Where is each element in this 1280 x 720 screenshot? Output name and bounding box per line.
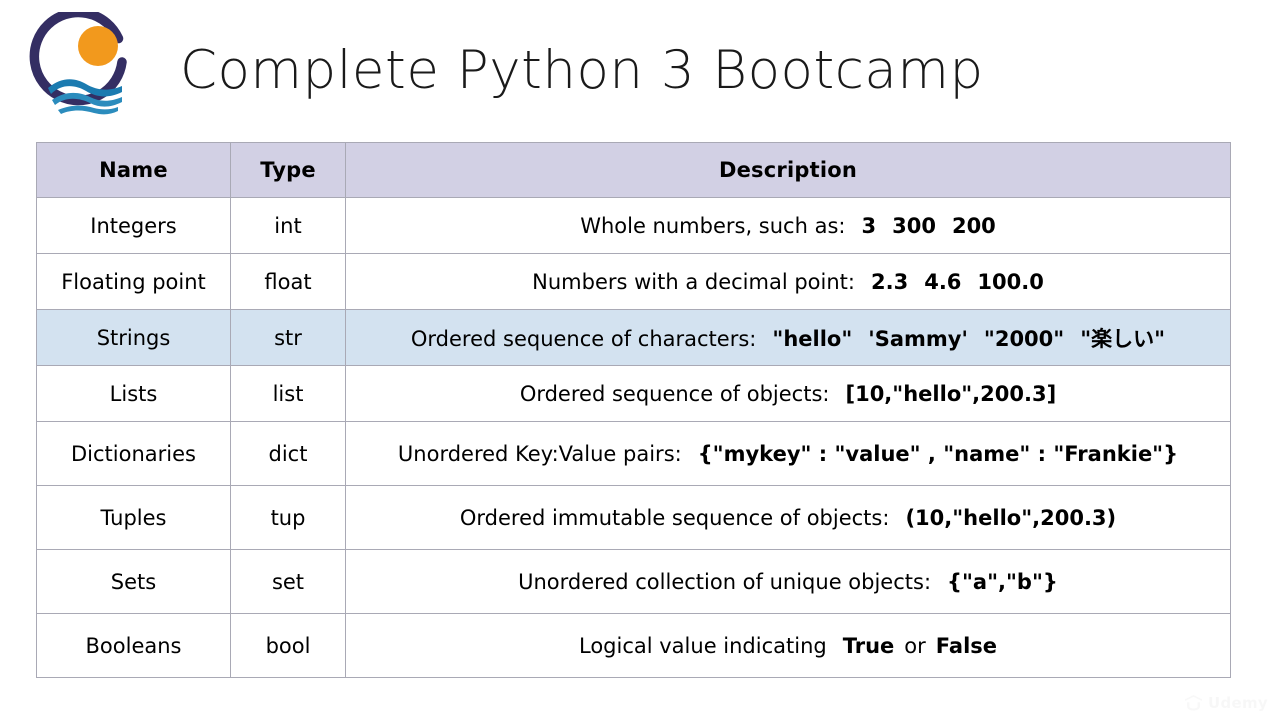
description-value: 300 — [892, 214, 936, 238]
description-text: Logical value indicating — [579, 634, 827, 658]
description-value: 200 — [952, 214, 996, 238]
description-value: "hello" — [772, 327, 852, 351]
table-row: DictionariesdictUnordered Key:Value pair… — [37, 422, 1231, 486]
table-row: BooleansboolLogical value indicatingTrue… — [37, 614, 1231, 678]
cell-type: dict — [231, 422, 346, 486]
description-value: True — [843, 634, 895, 658]
description-value: 'Sammy' — [868, 327, 968, 351]
cell-description: Unordered Key:Value pairs:{"mykey" : "va… — [346, 422, 1231, 486]
cell-description: Unordered collection of unique objects:{… — [346, 550, 1231, 614]
table-row: IntegersintWhole numbers, such as:330020… — [37, 198, 1231, 254]
cell-description: Ordered sequence of objects:[10,"hello",… — [346, 366, 1231, 422]
table-header-row: Name Type Description — [37, 143, 1231, 198]
cell-name: Lists — [37, 366, 231, 422]
cell-name: Floating point — [37, 254, 231, 310]
description-value: 4.6 — [924, 270, 961, 294]
cell-name: Booleans — [37, 614, 231, 678]
cell-name: Integers — [37, 198, 231, 254]
description-value: False — [936, 634, 997, 658]
cell-type: str — [231, 310, 346, 366]
table-row: Floating pointfloatNumbers with a decima… — [37, 254, 1231, 310]
cell-type: list — [231, 366, 346, 422]
cell-description: Ordered immutable sequence of objects:(1… — [346, 486, 1231, 550]
column-header-name: Name — [37, 143, 231, 198]
description-value: {"mykey" : "value" , "name" : "Frankie"} — [698, 442, 1178, 466]
column-header-description: Description — [346, 143, 1231, 198]
description-value: "楽しい" — [1080, 327, 1165, 351]
cell-description: Whole numbers, such as:3300200 — [346, 198, 1231, 254]
description-value: (10,"hello",200.3) — [905, 506, 1116, 530]
table-row: ListslistOrdered sequence of objects:[10… — [37, 366, 1231, 422]
description-text: Ordered sequence of objects: — [520, 382, 830, 406]
description-value: 3 — [861, 214, 876, 238]
cell-description: Numbers with a decimal point:2.34.6100.0 — [346, 254, 1231, 310]
description-text: Ordered sequence of characters: — [411, 327, 757, 351]
cell-description: Logical value indicatingTrueorFalse — [346, 614, 1231, 678]
pierian-data-logo — [26, 12, 142, 128]
table-row: StringsstrOrdered sequence of characters… — [37, 310, 1231, 366]
description-text: Ordered immutable sequence of objects: — [460, 506, 890, 530]
cell-name: Sets — [37, 550, 231, 614]
udemy-logo-icon — [1184, 695, 1203, 711]
cell-description: Ordered sequence of characters:"hello"'S… — [346, 310, 1231, 366]
description-value: 100.0 — [977, 270, 1043, 294]
python-data-types-table: Name Type Description IntegersintWhole n… — [36, 142, 1231, 678]
description-value: 2.3 — [871, 270, 908, 294]
cell-name: Strings — [37, 310, 231, 366]
description-value: [10,"hello",200.3] — [845, 382, 1056, 406]
cell-type: tup — [231, 486, 346, 550]
description-text: Unordered collection of unique objects: — [518, 570, 931, 594]
udemy-watermark: Udemy — [1184, 694, 1268, 712]
cell-type: set — [231, 550, 346, 614]
description-text: or — [904, 634, 925, 658]
cell-name: Dictionaries — [37, 422, 231, 486]
cell-type: float — [231, 254, 346, 310]
table-row: TuplestupOrdered immutable sequence of o… — [37, 486, 1231, 550]
udemy-watermark-text: Udemy — [1208, 694, 1268, 712]
description-value: {"a","b"} — [947, 570, 1058, 594]
description-text: Numbers with a decimal point: — [532, 270, 855, 294]
cell-type: int — [231, 198, 346, 254]
description-text: Whole numbers, such as: — [580, 214, 845, 238]
column-header-type: Type — [231, 143, 346, 198]
cell-type: bool — [231, 614, 346, 678]
table-row: SetssetUnordered collection of unique ob… — [37, 550, 1231, 614]
cell-name: Tuples — [37, 486, 231, 550]
page-header: Complete Python 3 Bootcamp — [0, 0, 1280, 140]
table-body: IntegersintWhole numbers, such as:330020… — [37, 198, 1231, 678]
description-value: "2000" — [984, 327, 1064, 351]
table-header: Name Type Description — [37, 143, 1231, 198]
description-text: Unordered Key:Value pairs: — [398, 442, 682, 466]
page-title: Complete Python 3 Bootcamp — [180, 44, 984, 97]
